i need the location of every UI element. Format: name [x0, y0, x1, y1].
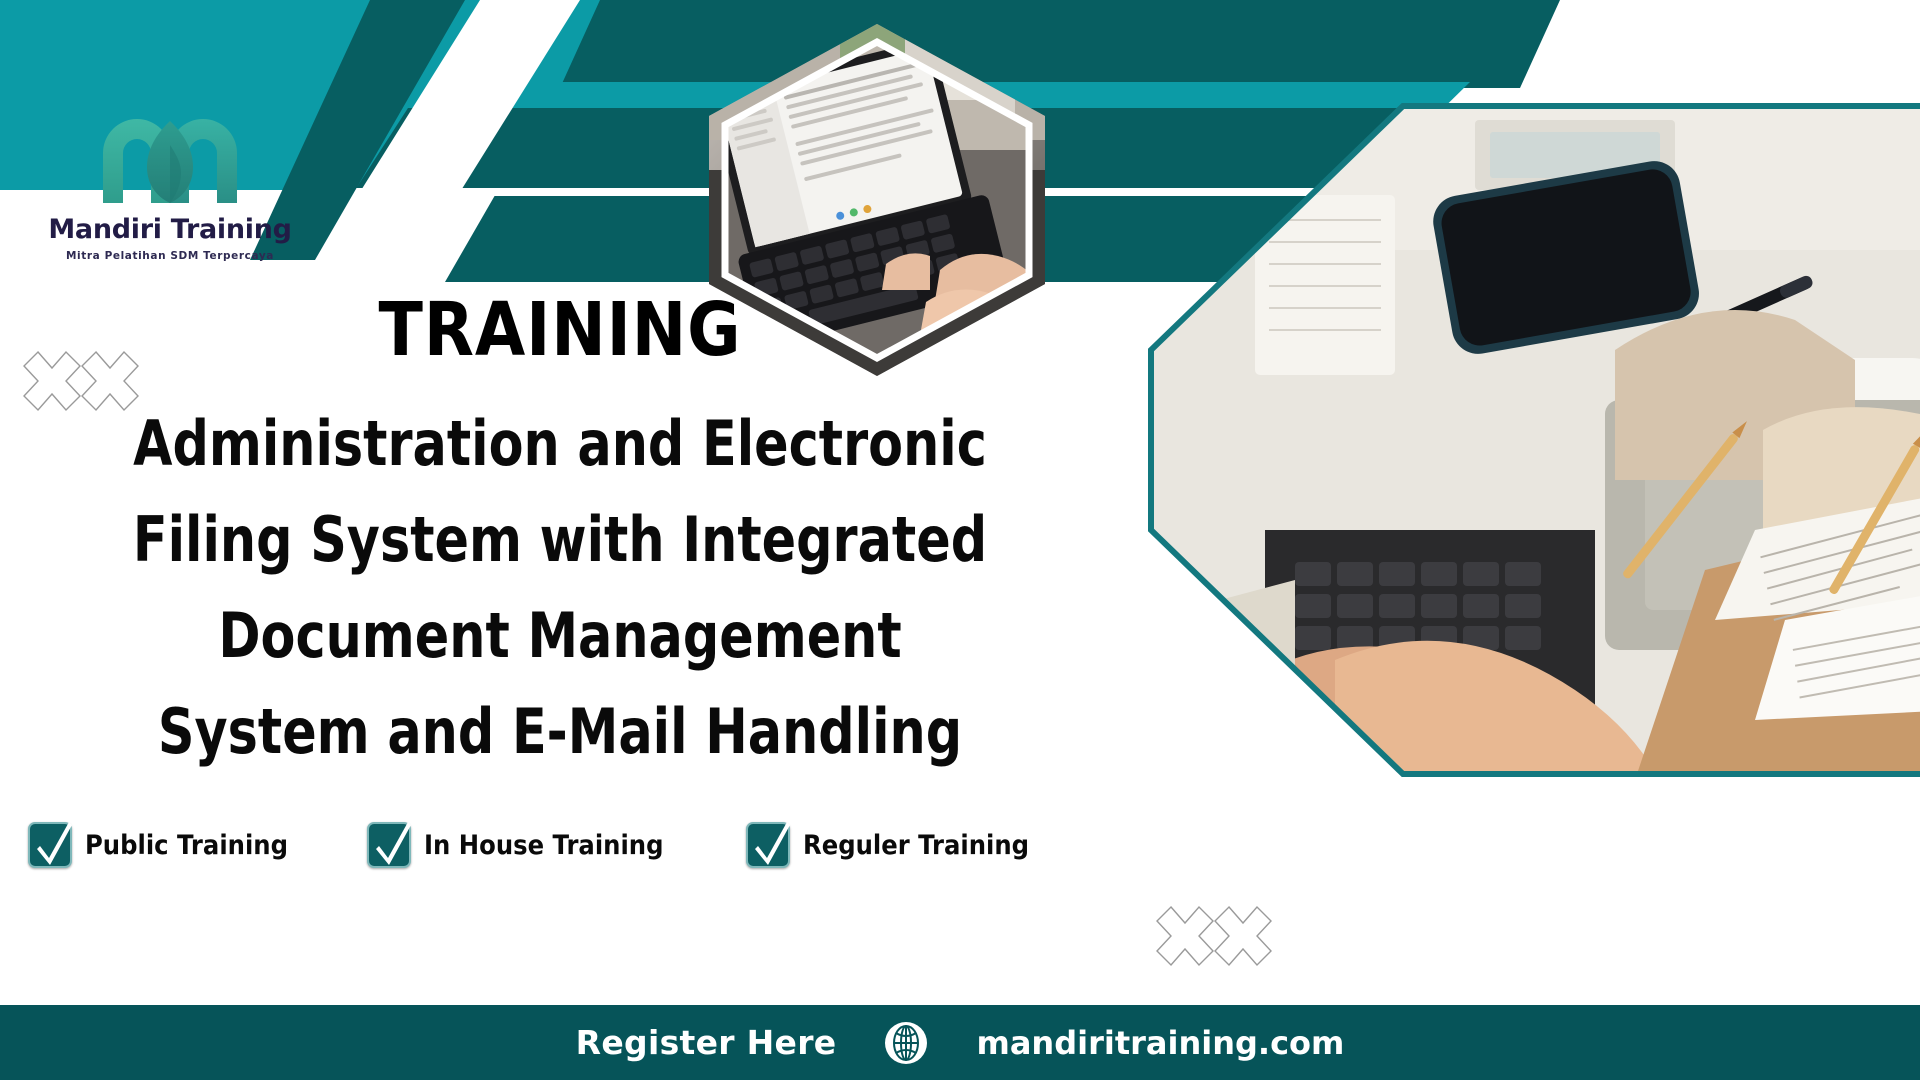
checkbox-reguler-training[interactable] — [746, 822, 790, 868]
cross-outline-pair-right — [1155, 905, 1273, 972]
training-type-label: Reguler Training — [803, 830, 1029, 861]
brand-name: Mandiri Training — [40, 214, 300, 245]
training-type-public[interactable]: Public Training — [28, 822, 311, 868]
register-here-label[interactable]: Register Here — [576, 1023, 837, 1062]
brand-logo: Mandiri Training Mitra Pelatihan SDM Ter… — [40, 105, 300, 262]
checkbox-in-house-training[interactable] — [367, 822, 411, 868]
checkbox-public-training[interactable] — [28, 822, 72, 868]
checkmark-icon — [33, 822, 75, 872]
checkmark-icon — [372, 822, 414, 872]
desk-documents-photo — [1145, 100, 1920, 780]
website-url[interactable]: mandiritraining.com — [976, 1024, 1344, 1062]
title-line-4: System and E-Mail Handling — [117, 684, 1003, 780]
training-type-reguler[interactable]: Reguler Training — [746, 822, 1054, 868]
title-line-2: Filing System with Integrated — [117, 492, 1003, 588]
training-type-label: In House Training — [424, 830, 663, 861]
footer-bar: Register Here mandiritraining.com — [0, 1005, 1920, 1080]
training-type-list: Public Training In House Training Regule… — [28, 822, 1054, 868]
training-type-label: Public Training — [85, 830, 288, 861]
globe-icon — [882, 1019, 930, 1067]
checkmark-icon — [751, 822, 793, 872]
training-type-in-house[interactable]: In House Training — [367, 822, 690, 868]
title-line-1: Administration and Electronic — [117, 396, 1003, 492]
eyebrow-training: TRAINING — [85, 290, 1035, 370]
headline-block: TRAINING Administration and Electronic F… — [20, 290, 1100, 780]
mandiri-m-monogram-icon — [95, 105, 245, 210]
title-line-3: Document Management — [117, 588, 1003, 684]
brand-tagline: Mitra Pelatihan SDM Terpercaya — [40, 250, 300, 262]
